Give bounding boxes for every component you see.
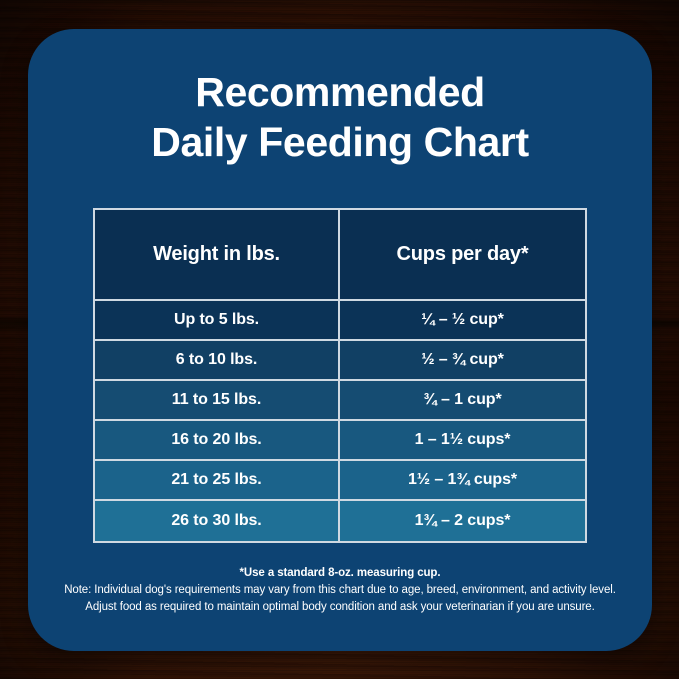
table-row: 16 to 20 lbs. 1 – 1½ cups*: [95, 421, 585, 461]
footnote-note-line-2: Adjust food as required to maintain opti…: [50, 599, 630, 616]
cell-cups: 1 – 1½ cups*: [340, 421, 585, 461]
page-title: Recommended Daily Feeding Chart: [28, 67, 652, 167]
footnotes: *Use a standard 8-oz. measuring cup. Not…: [50, 564, 630, 616]
footnote-note-line-1: Note: Individual dog's requirements may …: [50, 582, 630, 599]
cell-weight: 21 to 25 lbs.: [95, 461, 340, 501]
page-title-line-2: Daily Feeding Chart: [28, 117, 652, 167]
cell-cups: ¼ – ½ cup*: [340, 301, 585, 341]
footnote-measuring-cup: *Use a standard 8-oz. measuring cup.: [50, 564, 630, 582]
cell-cups: 1½ – 1¾ cups*: [340, 461, 585, 501]
cell-cups: 1¾ – 2 cups*: [340, 501, 585, 541]
table-row: 11 to 15 lbs. ¾ – 1 cup*: [95, 381, 585, 421]
cell-weight: 16 to 20 lbs.: [95, 421, 340, 461]
table-row: Up to 5 lbs. ¼ – ½ cup*: [95, 301, 585, 341]
feeding-chart-card: Recommended Daily Feeding Chart Weight i…: [28, 29, 652, 651]
cell-cups: ¾ – 1 cup*: [340, 381, 585, 421]
table-body: Up to 5 lbs. ¼ – ½ cup* 6 to 10 lbs. ½ –…: [95, 301, 585, 541]
table-row: 6 to 10 lbs. ½ – ¾ cup*: [95, 341, 585, 381]
feeding-chart-table: Weight in lbs. Cups per day* Up to 5 lbs…: [93, 208, 587, 543]
table-header-row: Weight in lbs. Cups per day*: [95, 210, 585, 301]
cell-cups: ½ – ¾ cup*: [340, 341, 585, 381]
column-header-cups: Cups per day*: [340, 210, 585, 301]
cell-weight: Up to 5 lbs.: [95, 301, 340, 341]
page-title-line-1: Recommended: [28, 67, 652, 117]
cell-weight: 6 to 10 lbs.: [95, 341, 340, 381]
column-header-weight: Weight in lbs.: [95, 210, 340, 301]
cell-weight: 11 to 15 lbs.: [95, 381, 340, 421]
table-row: 21 to 25 lbs. 1½ – 1¾ cups*: [95, 461, 585, 501]
table-row: 26 to 30 lbs. 1¾ – 2 cups*: [95, 501, 585, 541]
cell-weight: 26 to 30 lbs.: [95, 501, 340, 541]
table-header: Weight in lbs. Cups per day*: [95, 210, 585, 301]
